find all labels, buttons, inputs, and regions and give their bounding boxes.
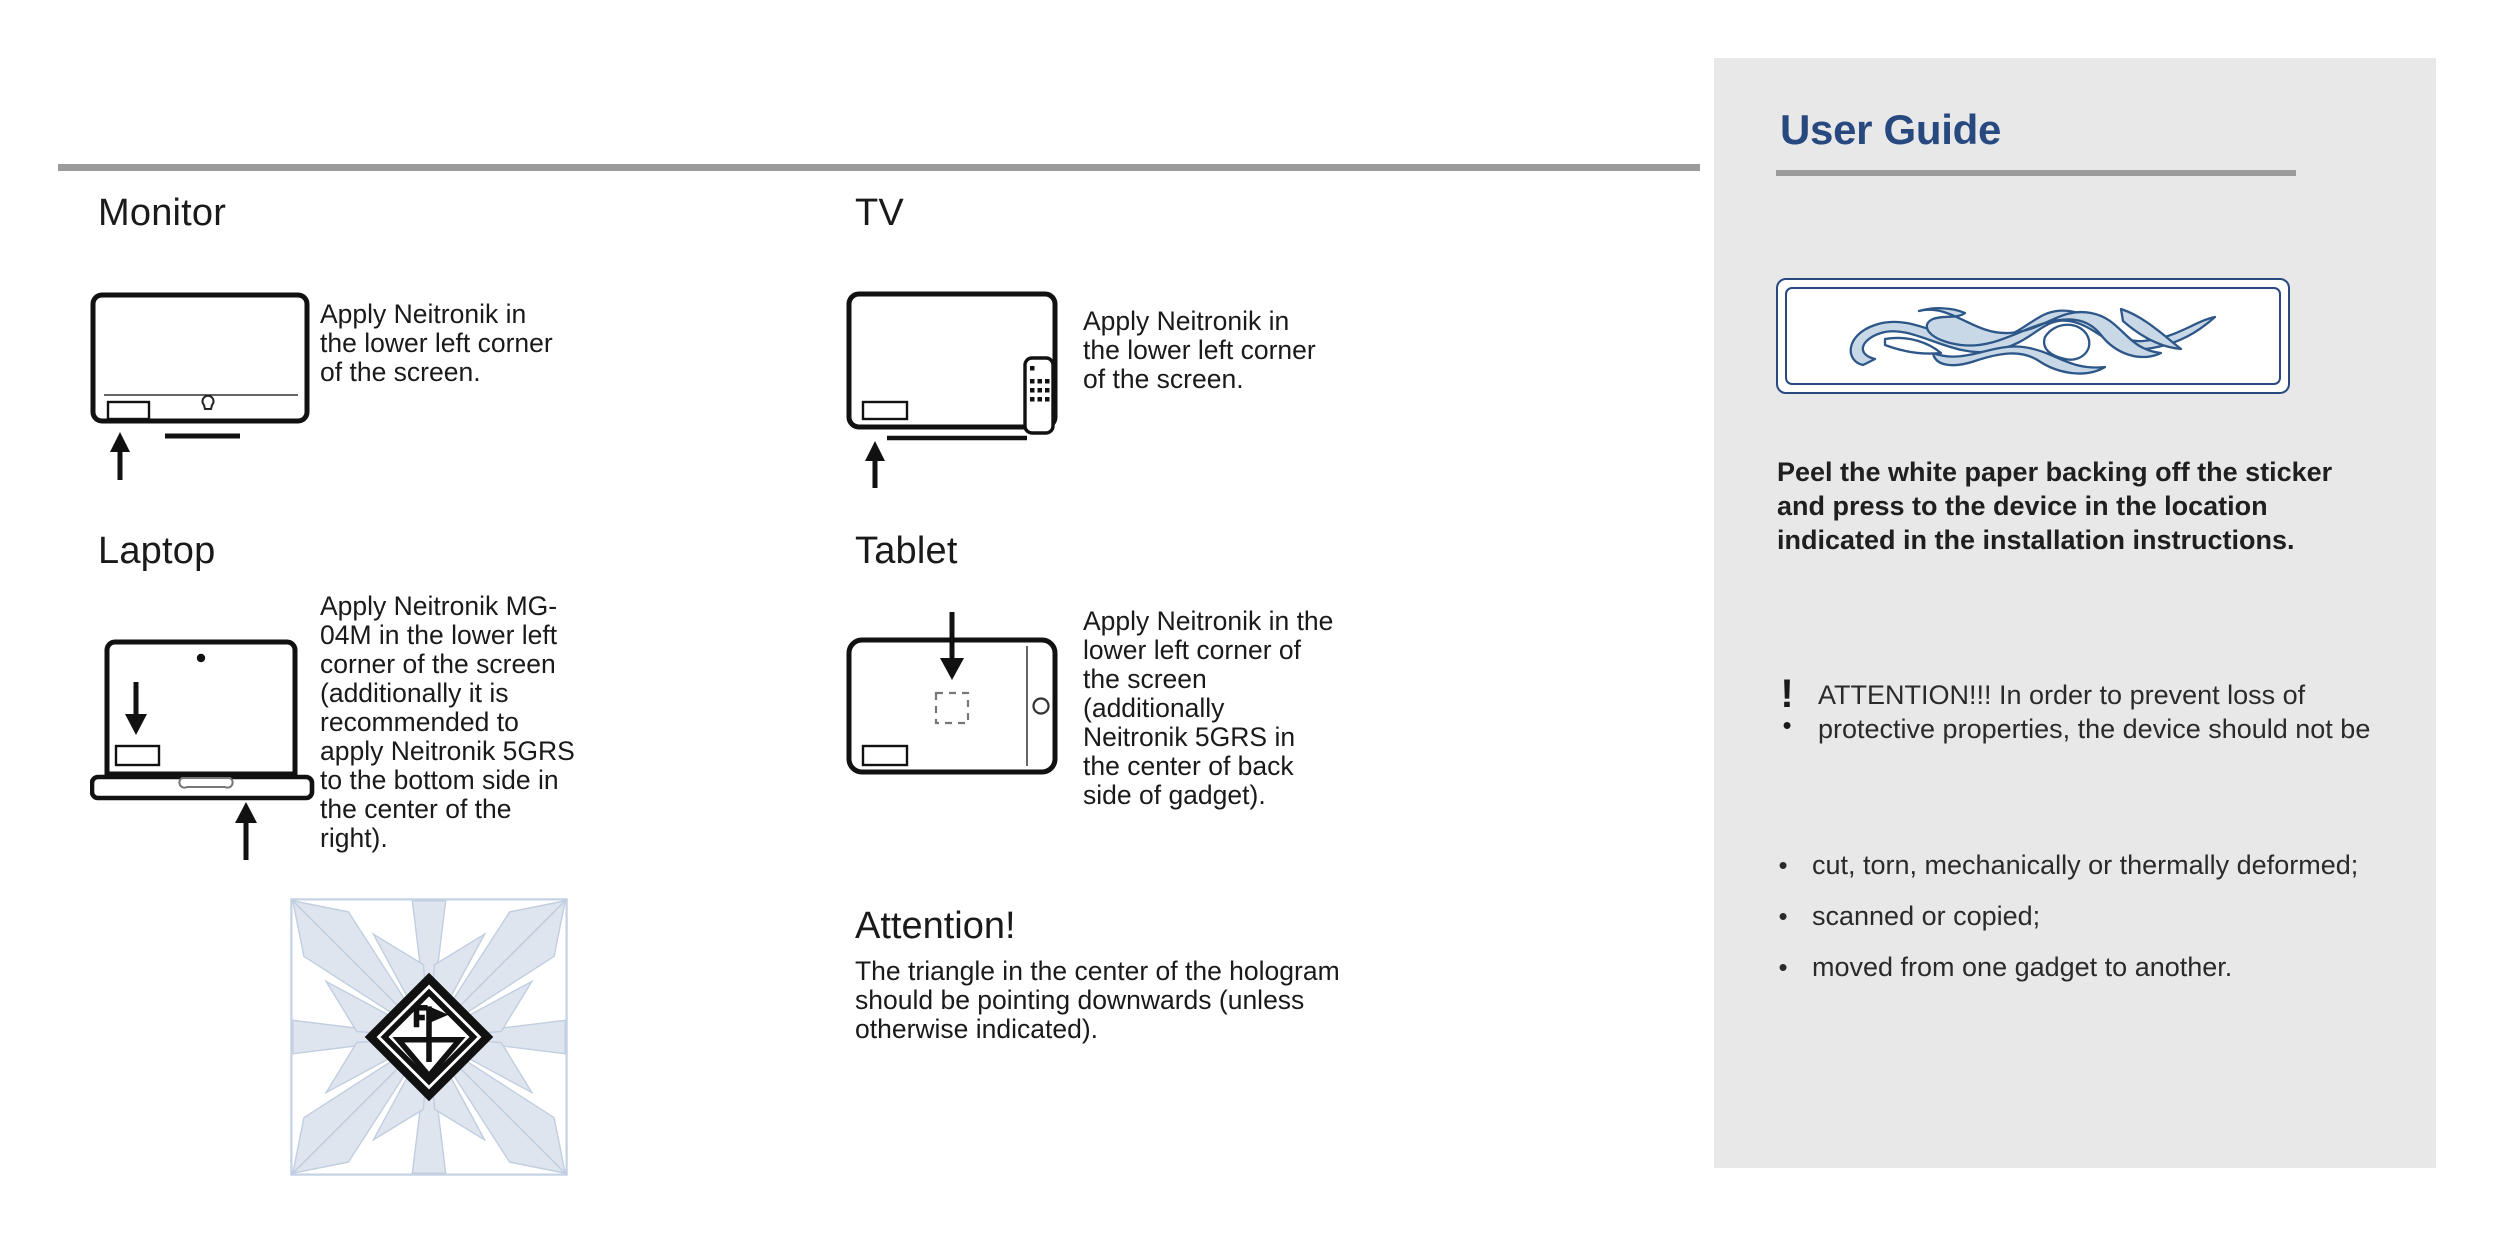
- attention-text: The triangle in the center of the hologr…: [855, 957, 1415, 1044]
- device-block-monitor: Monitor: [98, 192, 226, 235]
- bullet-icon: •: [1776, 712, 1798, 738]
- instruction-sheet: Monitor Apply Neitronik in the lower lef…: [0, 0, 2501, 1257]
- device-instruction-tablet: Apply Neitronik in the lower left corner…: [1083, 607, 1335, 810]
- attention-note-text: ATTENTION!!! In order to prevent loss of…: [1818, 678, 2376, 746]
- peel-instruction-text: Peel the white paper backing off the sti…: [1777, 455, 2355, 557]
- tablet-illustration: [845, 600, 1085, 800]
- exclamation-icon: !: [1776, 674, 1798, 714]
- device-block-laptop: Laptop: [98, 530, 215, 573]
- tv-illustration: [845, 290, 1105, 495]
- list-item-text: cut, torn, mechanically or thermally def…: [1812, 848, 2396, 882]
- celtic-knot-sticker-frame: [1776, 278, 2290, 394]
- device-heading-monitor: Monitor: [98, 192, 226, 235]
- attention-block: Attention! The triangle in the center of…: [855, 905, 1415, 1044]
- sidebar-divider: [1776, 170, 2296, 176]
- monitor-illustration: [90, 292, 330, 487]
- device-instruction-tv: Apply Neitronik in the lower left corner…: [1083, 307, 1333, 394]
- device-heading-laptop: Laptop: [98, 530, 215, 573]
- restrictions-list: • cut, torn, mechanically or thermally d…: [1776, 848, 2396, 1001]
- device-instruction-laptop: Apply Neitronik MG-04M in the lower left…: [320, 592, 582, 853]
- list-item: • cut, torn, mechanically or thermally d…: [1776, 848, 2396, 882]
- list-item: • scanned or copied;: [1776, 899, 2396, 933]
- user-guide-sidebar: User Guide Peel the white paper backing …: [1714, 58, 2436, 1168]
- hologram-star-burst: [290, 898, 568, 1176]
- list-item-text: moved from one gadget to another.: [1812, 950, 2396, 984]
- device-heading-tv: TV: [855, 192, 904, 235]
- celtic-knot-icon: [1823, 291, 2243, 381]
- device-instruction-monitor: Apply Neitronik in the lower left corner…: [320, 300, 570, 387]
- list-item-text: scanned or copied;: [1812, 899, 2396, 933]
- bullet-icon: •: [1776, 899, 1790, 933]
- list-item: • moved from one gadget to another.: [1776, 950, 2396, 984]
- sidebar-title: User Guide: [1780, 106, 2001, 154]
- laptop-illustration: [90, 632, 330, 867]
- device-heading-tablet: Tablet: [855, 530, 958, 573]
- attention-title: Attention!: [855, 905, 1415, 948]
- header-divider: [58, 164, 1700, 171]
- bullet-icon: •: [1776, 950, 1790, 984]
- device-block-tablet: Tablet: [855, 530, 958, 573]
- bullet-icon: •: [1776, 848, 1790, 882]
- celtic-knot-sticker-inner: [1785, 287, 2281, 385]
- main-instructions-area: Monitor Apply Neitronik in the lower lef…: [0, 0, 1714, 1257]
- device-block-tv: TV: [855, 192, 904, 235]
- attention-marker-icon: ! •: [1776, 678, 1798, 746]
- attention-note: ! • ATTENTION!!! In order to prevent los…: [1776, 678, 2376, 746]
